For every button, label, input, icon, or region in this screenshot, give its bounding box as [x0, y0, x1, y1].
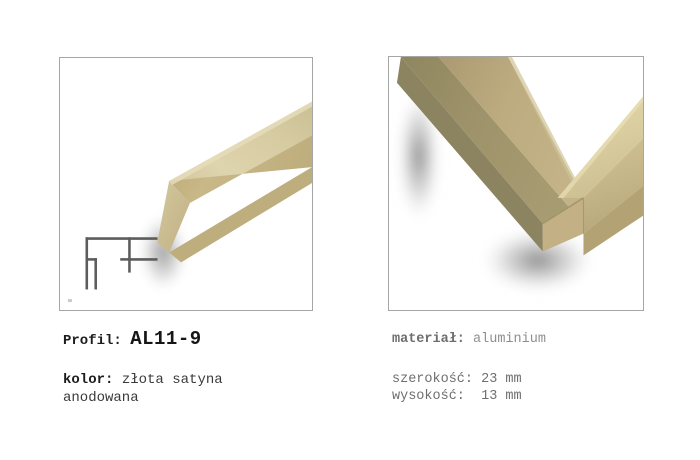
kolor-value-line1: złota satyna [122, 372, 223, 388]
material-spacer [465, 332, 473, 347]
spec-row-material: materiał: aluminium [392, 330, 672, 347]
profil-value: AL11-9 [130, 328, 201, 350]
product-spec-page: Profil: AL11-9 kolor: złota satyna anodo… [0, 0, 700, 460]
profile-image-panel[interactable] [59, 57, 313, 311]
cross-section-tick [68, 299, 72, 302]
spec-row-profil: Profil: AL11-9 [63, 330, 343, 349]
kolor-value-line2: anodowana [63, 391, 343, 405]
frame-corner-image-panel[interactable] [388, 56, 644, 311]
spec-row-kolor: kolor: złota satyna anodowana [63, 371, 343, 405]
kolor-label: kolor: [63, 372, 113, 388]
profil-label: Profil: [63, 333, 122, 349]
dimension-wysokosc: wysokość: 13 mm [392, 390, 672, 404]
profil-spacer [122, 333, 130, 349]
frame-corner-photo [389, 57, 643, 310]
material-value: aluminium [473, 332, 546, 347]
spec-dimensions: szerokość: 23 mm wysokość: 13 mm [392, 373, 672, 404]
left-spec-column: Profil: AL11-9 kolor: złota satyna anodo… [63, 330, 343, 405]
material-label: materiał: [392, 332, 465, 347]
kolor-spacer [113, 372, 121, 388]
dimension-szerokosc: szerokość: 23 mm [392, 373, 672, 387]
right-spec-column: materiał: aluminium szerokość: 23 mm wys… [392, 330, 672, 408]
profile-photo-angled-bar [60, 58, 312, 310]
